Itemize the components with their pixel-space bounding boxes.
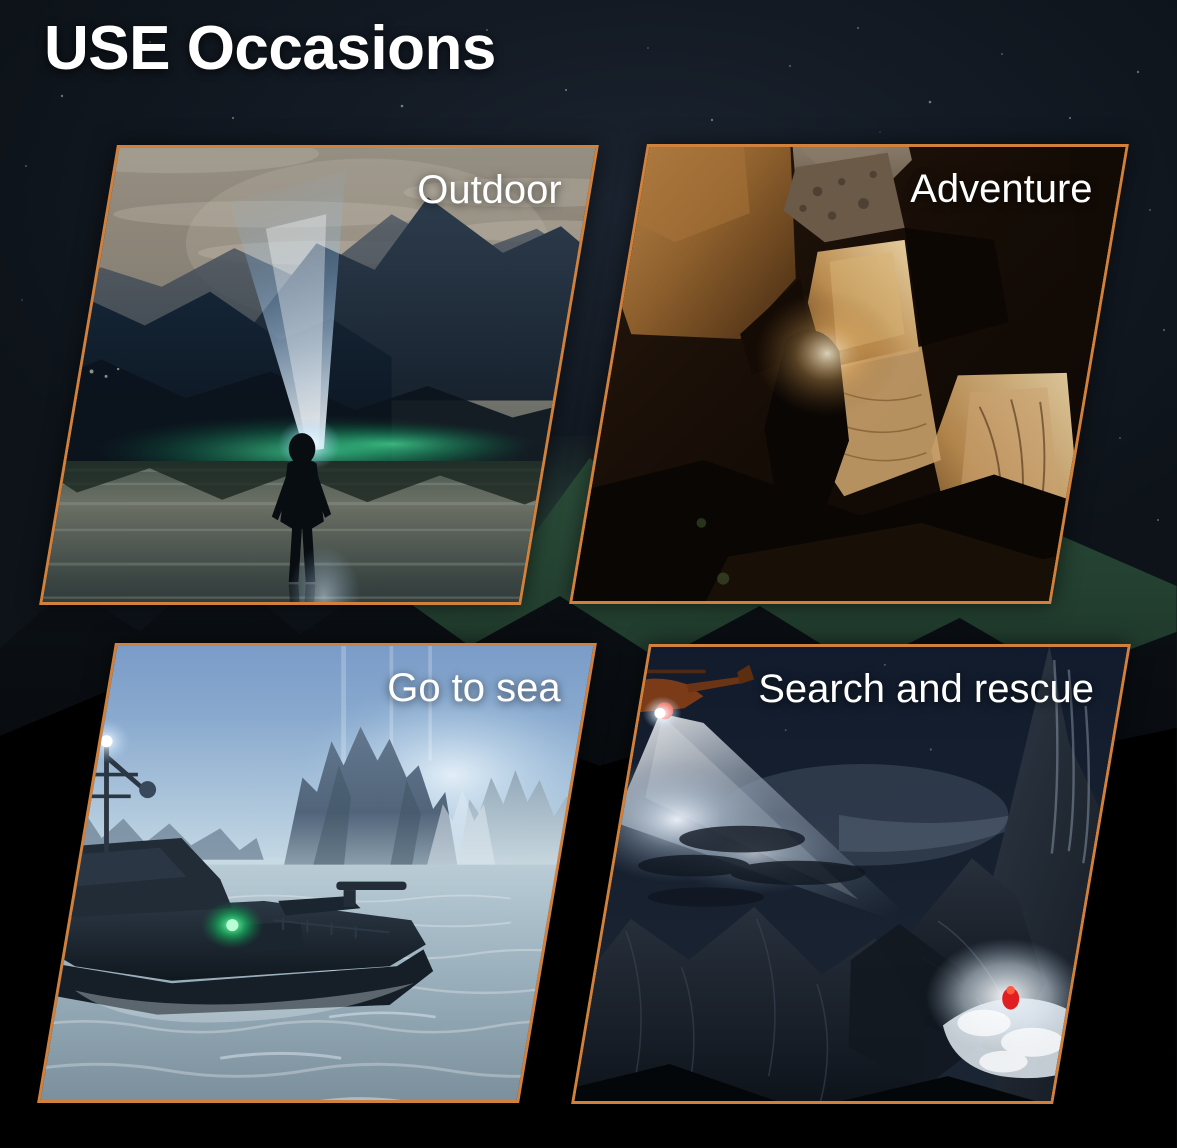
scene-boat-at-sea-with-searchlight [37,643,597,1103]
background-stage: USE Occasions [0,0,1177,1148]
scene-caver-exploring-lit-rock-cave [569,144,1129,604]
occasion-image-rescue [571,644,1131,1104]
occasion-caption-outdoor: Outdoor [418,168,563,213]
scene-helicopter-searchlight-over-mountains [571,644,1131,1104]
occasion-image-adventure [569,144,1129,604]
occasion-caption-adventure: Adventure [910,167,1092,212]
occasion-card-sea[interactable]: Go to sea [37,643,597,1103]
occasion-card-rescue[interactable]: Search and rescue [571,644,1131,1104]
page-title: USE Occasions [44,16,496,83]
occasion-image-sea [37,643,597,1103]
occasion-card-adventure[interactable]: Adventure [569,144,1129,604]
occasion-card-outdoor[interactable]: Outdoor [39,145,599,605]
occasion-caption-rescue: Search and rescue [758,667,1094,712]
occasion-image-outdoor [39,145,599,605]
scene-man-with-flashlight-at-mountain-lake [39,145,599,605]
occasion-caption-sea: Go to sea [387,666,560,711]
